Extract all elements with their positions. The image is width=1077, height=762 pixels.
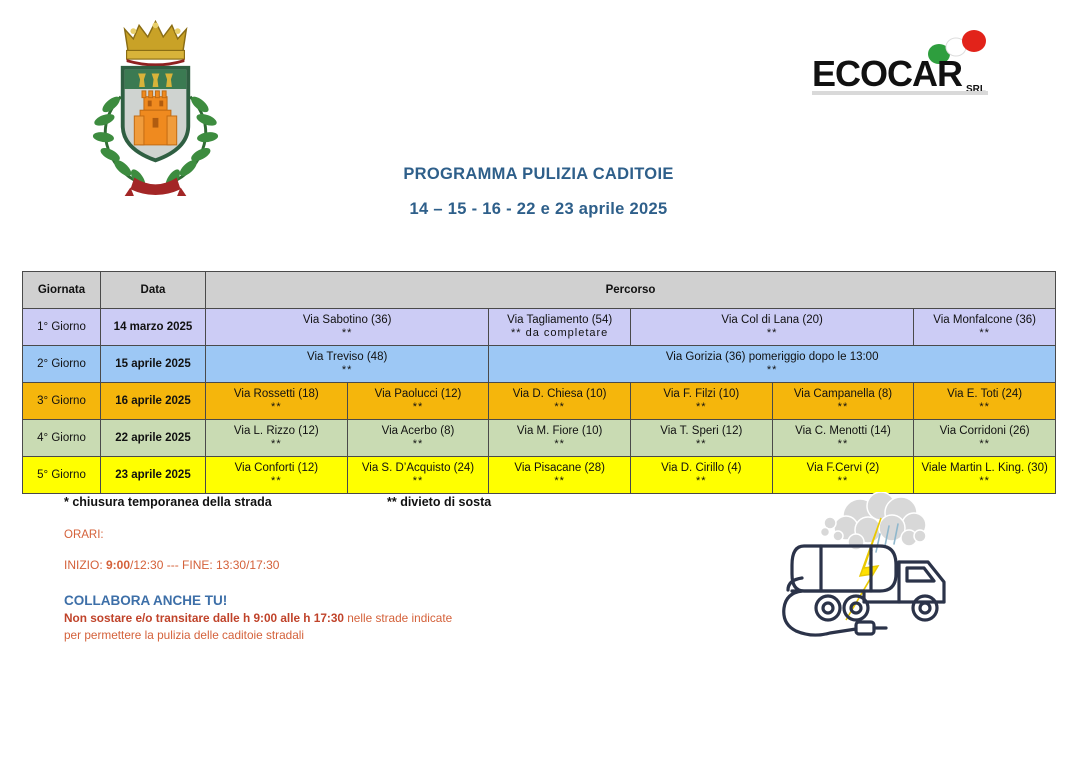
route-cell: Via F. Filzi (10) ** xyxy=(630,383,772,420)
route-name: Via Rossetti (18) xyxy=(234,388,319,400)
route-note: ** xyxy=(206,401,347,415)
cell-giornata: 2° Giorno xyxy=(23,346,101,383)
title-block: PROGRAMMA PULIZIA CADITOIE 14 – 15 - 16 … xyxy=(0,165,1077,219)
route-name: Via Corridoni (26) xyxy=(940,425,1030,437)
route-note: ** xyxy=(348,401,489,415)
cell-data: 22 aprile 2025 xyxy=(101,420,206,457)
cell-data: 15 aprile 2025 xyxy=(101,346,206,383)
orari-start-time: 9:00 xyxy=(106,558,130,572)
route-note: ** da completare xyxy=(489,327,630,341)
route-note: ** xyxy=(631,401,772,415)
route-name: Via F. Filzi (10) xyxy=(663,388,739,400)
route-cell: Via Conforti (12) ** xyxy=(206,457,348,494)
collabora-line-2: per permettere la pulizia delle caditoie… xyxy=(64,628,684,642)
table-body: 1° Giorno 14 marzo 2025 Via Sabotino (36… xyxy=(23,309,1056,494)
cell-giornata: 4° Giorno xyxy=(23,420,101,457)
route-name: Via Monfalcone (36) xyxy=(933,314,1036,326)
collabora-warning-bold: Non sostare e/o transitare dalle h 9:00 … xyxy=(64,611,344,625)
orari-line: INIZIO: 9:00/12:30 --- FINE: 13:30/17:30 xyxy=(64,558,704,572)
route-name: Via Paolucci (12) xyxy=(375,388,462,400)
cell-giornata: 3° Giorno xyxy=(23,383,101,420)
route-note: ** xyxy=(206,438,347,452)
route-cell: Via Acerbo (8) ** xyxy=(347,420,489,457)
route-name: Via M. Fiore (10) xyxy=(517,425,602,437)
route-cell: Via Monfalcone (36) ** xyxy=(914,309,1056,346)
table-row: 2° Giorno 15 aprile 2025 Via Treviso (48… xyxy=(23,346,1056,383)
route-name: Via Pisacane (28) xyxy=(514,462,605,474)
route-note: ** xyxy=(348,475,489,489)
collabora-block: COLLABORA ANCHE TU! Non sostare e/o tran… xyxy=(64,593,684,642)
route-note: ** xyxy=(631,327,913,341)
column-header-giornata: Giornata xyxy=(23,272,101,309)
route-name: Via E. Toti (24) xyxy=(947,388,1022,400)
route-cell: Via Col di Lana (20) ** xyxy=(630,309,913,346)
route-note: ** xyxy=(773,475,914,489)
cell-data: 23 aprile 2025 xyxy=(101,457,206,494)
route-cell: Via D. Cirillo (4) ** xyxy=(630,457,772,494)
route-name: Via C. Menotti (14) xyxy=(795,425,891,437)
route-note: ** xyxy=(489,438,630,452)
column-header-percorso: Percorso xyxy=(206,272,1056,309)
route-cell: Via Treviso (48) ** xyxy=(206,346,489,383)
schedule-table: Giornata Data Percorso 1° Giorno 14 marz… xyxy=(22,271,1056,494)
route-cell: Via Gorizia (36) pomeriggio dopo le 13:0… xyxy=(489,346,1056,383)
column-header-data: Data xyxy=(101,272,206,309)
route-name: Via F.Cervi (2) xyxy=(807,462,880,474)
route-name: Via Sabotino (36) xyxy=(303,314,392,326)
table-row: 5° Giorno 23 aprile 2025 Via Conforti (1… xyxy=(23,457,1056,494)
route-name: Viale Martin L. King. (30) xyxy=(921,462,1047,474)
route-note: ** xyxy=(773,401,914,415)
route-name: Via D. Chiesa (10) xyxy=(513,388,607,400)
route-cell: Via Sabotino (36) ** xyxy=(206,309,489,346)
route-name: Via D. Cirillo (4) xyxy=(661,462,741,474)
route-cell: Via Campanella (8) ** xyxy=(772,383,914,420)
collabora-line-1: Non sostare e/o transitare dalle h 9:00 … xyxy=(64,611,684,625)
table-header-row: Giornata Data Percorso xyxy=(23,272,1056,309)
route-note: ** xyxy=(773,438,914,452)
route-name: Via T. Speri (12) xyxy=(660,425,742,437)
route-cell: Via Paolucci (12) ** xyxy=(347,383,489,420)
route-name: Via L. Rizzo (12) xyxy=(234,425,319,437)
route-cell: Via E. Toti (24) ** xyxy=(914,383,1056,420)
cell-giornata: 5° Giorno xyxy=(23,457,101,494)
route-name: Via Conforti (12) xyxy=(235,462,319,474)
route-name: Via Col di Lana (20) xyxy=(721,314,822,326)
route-cell: Via L. Rizzo (12) ** xyxy=(206,420,348,457)
orari-prefix: INIZIO: xyxy=(64,558,106,572)
ecocar-logo: ECOCAR SRL xyxy=(806,28,998,100)
legend-row: * chiusura temporanea della strada ** di… xyxy=(64,495,704,511)
route-name: Via Gorizia (36) pomeriggio dopo le 13:0… xyxy=(666,351,879,363)
route-cell: Via M. Fiore (10) ** xyxy=(489,420,631,457)
route-note: ** xyxy=(914,327,1055,341)
cell-giornata: 1° Giorno xyxy=(23,309,101,346)
route-name: Via Tagliamento (54) xyxy=(507,314,612,326)
route-cell: Via C. Menotti (14) ** xyxy=(772,420,914,457)
route-cell: Via F.Cervi (2) ** xyxy=(772,457,914,494)
route-note: ** xyxy=(914,475,1055,489)
route-note: ** xyxy=(206,364,488,378)
route-note: ** xyxy=(631,475,772,489)
collabora-warning-rest: nelle strade indicate xyxy=(344,611,452,625)
route-cell: Via T. Speri (12) ** xyxy=(630,420,772,457)
street-sweeper-truck-icon xyxy=(768,492,983,657)
route-note: ** xyxy=(206,327,488,341)
table-row: 4° Giorno 22 aprile 2025 Via L. Rizzo (1… xyxy=(23,420,1056,457)
legend-no-parking: ** divieto di sosta xyxy=(387,495,491,509)
orari-label: ORARI: xyxy=(64,529,704,541)
route-note: ** xyxy=(914,401,1055,415)
cell-data: 14 marzo 2025 xyxy=(101,309,206,346)
route-note: ** xyxy=(631,438,772,452)
page-title: PROGRAMMA PULIZIA CADITOIE xyxy=(0,165,1077,184)
route-note: ** xyxy=(914,438,1055,452)
orari-rest: /12:30 --- FINE: 13:30/17:30 xyxy=(130,558,279,572)
route-name: Via Treviso (48) xyxy=(307,351,387,363)
table-row: 3° Giorno 16 aprile 2025 Via Rossetti (1… xyxy=(23,383,1056,420)
route-note: ** xyxy=(489,475,630,489)
route-note: ** xyxy=(489,401,630,415)
route-cell: Via Pisacane (28) ** xyxy=(489,457,631,494)
route-name: Via Acerbo (8) xyxy=(382,425,455,437)
cell-data: 16 aprile 2025 xyxy=(101,383,206,420)
route-cell: Via Tagliamento (54) ** da completare xyxy=(489,309,631,346)
route-cell: Via Corridoni (26) ** xyxy=(914,420,1056,457)
page-subtitle: 14 – 15 - 16 - 22 e 23 aprile 2025 xyxy=(0,200,1077,219)
route-cell: Via D. Chiesa (10) ** xyxy=(489,383,631,420)
route-name: Via Campanella (8) xyxy=(794,388,892,400)
legend-notes: * chiusura temporanea della strada ** di… xyxy=(64,495,704,572)
collabora-title: COLLABORA ANCHE TU! xyxy=(64,593,684,608)
route-note: ** xyxy=(348,438,489,452)
route-cell: Via S. D’Acquisto (24) ** xyxy=(347,457,489,494)
legend-closure: * chiusura temporanea della strada xyxy=(64,495,272,509)
route-cell: Via Rossetti (18) ** xyxy=(206,383,348,420)
route-name: Via S. D’Acquisto (24) xyxy=(362,462,474,474)
route-note: ** xyxy=(489,364,1055,378)
ecocar-wordmark: ECOCAR xyxy=(812,53,963,94)
route-note: ** xyxy=(206,475,347,489)
table-row: 1° Giorno 14 marzo 2025 Via Sabotino (36… xyxy=(23,309,1056,346)
route-cell: Viale Martin L. King. (30) ** xyxy=(914,457,1056,494)
